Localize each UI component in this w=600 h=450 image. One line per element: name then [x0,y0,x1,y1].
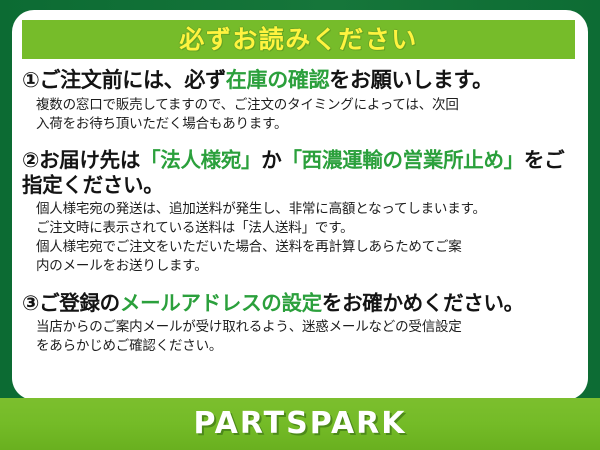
section-3-body-line-2: をあらかじめご確認ください。 [36,337,578,356]
section-3-heading-part-1: ご登録の [39,291,120,315]
section-3-heading-highlight: メールアドレスの設定 [120,291,322,315]
section-2-heading-part-3: か [261,148,281,172]
header-band: 必ずお読みください [22,20,575,59]
section-1-heading-part-3: をお願いします。 [329,68,493,92]
section-1-heading-part-1: ご注文前には、必ず [39,68,225,92]
section-1-body-line-1: 複数の窓口で販売してますので、ご注文のタイミングによっては、次回 [36,96,578,115]
section-1-number: ① [22,68,39,92]
footer-band: PARTSPARK [0,398,600,450]
section-2-body-line-4: 内のメールをお送りします。 [36,257,578,276]
header-title: 必ずお読みください [179,27,418,52]
section-1-heading-highlight: 在庫の確認 [226,68,330,92]
notice-section-2: ②お届け先は「法人様宛」か「西濃運輸の営業所止め」をご指定ください。 個人様宅宛… [22,148,578,277]
notice-section-1: ①ご注文前には、必ず在庫の確認をお願いします。 複数の窓口で販売してますので、ご… [22,68,578,134]
section-2-body-line-1: 個人様宅宛の発送は、追加送料が発生し、非常に高額となってしまいます。 [36,200,578,219]
section-2-body-line-3: 個人様宅宛でご注文をいただいた場合、送料を再計算しあらためてご案 [36,238,578,257]
section-2-heading-highlight-2: 「西濃運輸の営業所止め」 [281,148,523,172]
section-3-heading-part-3: をお確かめください。 [322,291,524,315]
section-2-heading-part-1: お届け先は [39,148,140,172]
section-3-number: ③ [22,291,39,315]
section-2-number: ② [22,148,39,172]
section-1-heading: ①ご注文前には、必ず在庫の確認をお願いします。 [22,68,578,94]
notice-section-3: ③ご登録のメールアドレスの設定をお確かめください。 当店からのご案内メールが受け… [22,291,578,356]
notice-banner: 必ずお読みください ①ご注文前には、必ず在庫の確認をお願いします。 複数の窓口で… [0,0,600,450]
section-2-heading-highlight-1: 「法人様宛」 [140,148,261,172]
section-1-body-line-2: 入荷をお待ち頂いただく場合もあります。 [36,115,578,134]
notice-card: 必ずお読みください ①ご注文前には、必ず在庫の確認をお願いします。 複数の窓口で… [12,10,588,400]
section-1-body: 複数の窓口で販売してますので、ご注文のタイミングによっては、次回 入荷をお待ち頂… [36,96,578,134]
section-3-body-line-1: 当店からのご案内メールが受け取れるよう、迷惑メールなどの受信設定 [36,318,578,337]
notice-content: ①ご注文前には、必ず在庫の確認をお願いします。 複数の窓口で販売してますので、ご… [12,68,588,362]
section-2-heading: ②お届け先は「法人様宛」か「西濃運輸の営業所止め」をご指定ください。 [22,148,578,198]
section-3-heading: ③ご登録のメールアドレスの設定をお確かめください。 [22,291,578,316]
section-2-body: 個人様宅宛の発送は、追加送料が発生し、非常に高額となってしまいます。 ご注文時に… [36,200,578,277]
section-2-body-line-2: ご注文時に表示されている送料は「法人送料」です。 [36,219,578,238]
section-3-body: 当店からのご案内メールが受け取れるよう、迷惑メールなどの受信設定 をあらかじめご… [36,318,578,356]
brand-logo-text: PARTSPARK [193,409,406,439]
